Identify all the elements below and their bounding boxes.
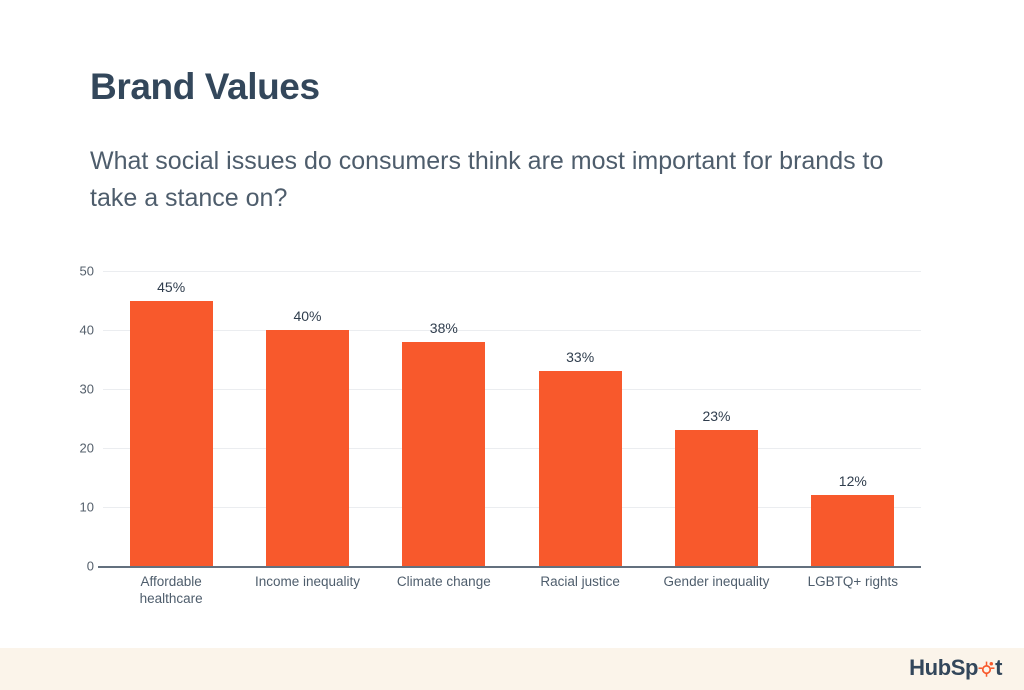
x-axis-category-label: LGBTQ+ rights <box>789 573 917 590</box>
bar-value-label: 40% <box>293 308 321 324</box>
hubspot-wordmark-tail: t <box>995 657 1002 679</box>
bar-slot: 12% LGBTQ+ rights <box>785 271 921 566</box>
bar-slot: 23% Gender inequality <box>648 271 784 566</box>
bar[interactable]: 33% <box>539 371 622 566</box>
hubspot-wordmark-head: HubSp <box>909 657 978 679</box>
bar[interactable]: 40% <box>266 330 349 566</box>
bar-slot: 40% Income inequality <box>239 271 375 566</box>
y-axis-tick-label: 50 <box>80 264 94 279</box>
slide: Brand Values What social issues do consu… <box>0 0 1024 690</box>
bar-series: 45% Affordable healthcare 40% Income ine… <box>103 271 921 566</box>
bar-value-label: 23% <box>702 408 730 424</box>
bar-value-label: 33% <box>566 349 594 365</box>
bar-value-label: 45% <box>157 279 185 295</box>
x-axis-category-label: Affordable healthcare <box>107 573 235 608</box>
bar-slot: 45% Affordable healthcare <box>103 271 239 566</box>
x-axis-category-label: Income inequality <box>243 573 371 590</box>
bar[interactable]: 23% <box>675 430 758 566</box>
x-axis-line <box>98 566 921 568</box>
bar-slot: 38% Climate change <box>376 271 512 566</box>
bar[interactable]: 12% <box>811 495 894 566</box>
y-axis-tick-label: 20 <box>80 441 94 456</box>
hubspot-sprocket-icon <box>978 659 995 676</box>
plot-area: 50 40 30 20 10 0 45% Affordable healthca… <box>103 271 921 566</box>
y-axis-tick-label: 40 <box>80 323 94 338</box>
bar-chart: 50 40 30 20 10 0 45% Affordable healthca… <box>103 262 921 566</box>
page-subtitle: What social issues do consumers think ar… <box>90 143 900 217</box>
x-axis-category-label: Gender inequality <box>652 573 780 590</box>
y-axis-tick-label: 30 <box>80 382 94 397</box>
hubspot-wordmark: HubSp t <box>909 657 1002 679</box>
x-axis-category-label: Climate change <box>380 573 508 590</box>
y-axis-tick-label: 10 <box>80 500 94 515</box>
bar-value-label: 38% <box>430 320 458 336</box>
y-axis-tick-label: 0 <box>87 559 94 574</box>
page-title: Brand Values <box>90 66 320 108</box>
bar-slot: 33% Racial justice <box>512 271 648 566</box>
hubspot-logo: HubSp t <box>909 655 1002 681</box>
x-axis-category-label: Racial justice <box>516 573 644 590</box>
bar[interactable]: 45% <box>130 301 213 567</box>
footer-band <box>0 648 1024 690</box>
bar-value-label: 12% <box>839 473 867 489</box>
bar[interactable]: 38% <box>402 342 485 566</box>
